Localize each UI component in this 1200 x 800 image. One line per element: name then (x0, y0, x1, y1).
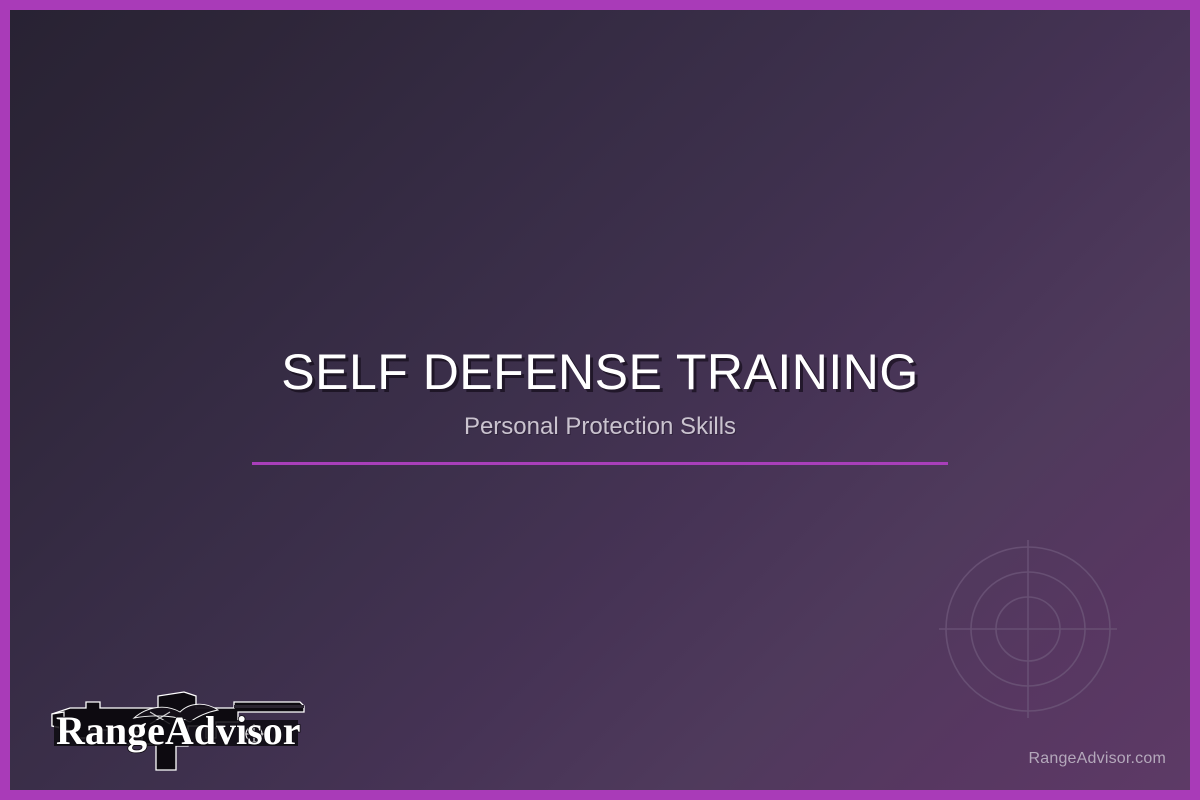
crosshair-target-icon (918, 519, 1138, 739)
title-block: SELF DEFENSE TRAINING Personal Protectio… (10, 346, 1190, 465)
presentation-slide: SELF DEFENSE TRAINING Personal Protectio… (0, 0, 1200, 800)
logo-wordmark: RangeAdvisor (56, 708, 300, 753)
page-title: SELF DEFENSE TRAINING (10, 346, 1190, 399)
page-subtitle: Personal Protection Skills (10, 413, 1190, 442)
rifle-silhouette-logo: RangeAdvisor (38, 682, 314, 774)
site-watermark: RangeAdvisor.com (1029, 750, 1167, 768)
slide-canvas: SELF DEFENSE TRAINING Personal Protectio… (10, 10, 1190, 790)
title-divider (252, 462, 948, 465)
